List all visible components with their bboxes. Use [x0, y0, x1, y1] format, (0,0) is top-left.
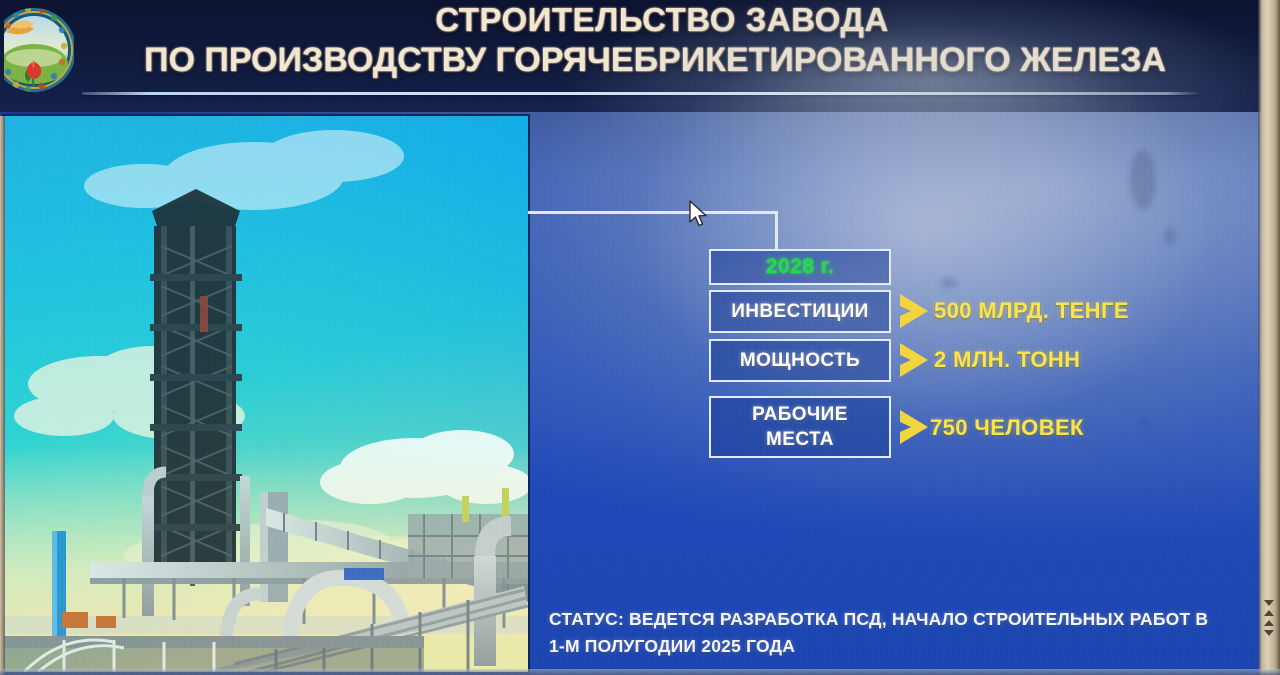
callout-connector-vertical — [775, 211, 778, 251]
display-edge-strip — [1258, 0, 1280, 675]
display-edge-buttons[interactable] — [1262, 600, 1276, 636]
investments-box: ИНВЕСТИЦИИ — [709, 290, 891, 333]
status-line-1: СТАТУС: ВЕДЕТСЯ РАЗРАБОТКА ПСД, НАЧАЛО С… — [549, 606, 1249, 633]
presentation-screen: СТРОИТЕЛЬСТВО ЗАВОДА ПО ПРОИЗВОДСТВУ ГОР… — [0, 0, 1280, 675]
status-block: СТАТУС: ВЕДЕТСЯ РАЗРАБОТКА ПСД, НАЧАЛО С… — [549, 606, 1249, 660]
chevron-right-icon — [898, 292, 932, 330]
edge-button-up-icon[interactable] — [1264, 610, 1274, 616]
jobs-box: РАБОЧИЕ МЕСТА — [709, 396, 891, 458]
plant-photo — [4, 116, 528, 672]
year-label: 2028 г. — [766, 255, 835, 279]
chevron-right-icon — [898, 408, 932, 446]
jobs-value: 750 ЧЕЛОВЕК — [930, 415, 1084, 441]
callout-connector-horizontal — [528, 211, 778, 214]
display-frame-bottom — [0, 669, 1280, 675]
title-line-1: СТРОИТЕЛЬСТВО ЗАВОДА — [40, 0, 1270, 40]
display-frame-left — [0, 116, 5, 675]
edge-button-down-icon[interactable] — [1264, 630, 1274, 636]
title-line-2: ПО ПРОИЗВОДСТВУ ГОРЯЧЕБРИКЕТИРОВАННОГО Ж… — [40, 40, 1270, 80]
investments-label: ИНВЕСТИЦИИ — [731, 299, 868, 324]
jobs-label-line-1: РАБОЧИЕ — [752, 402, 848, 427]
title-divider — [82, 92, 1200, 95]
edge-button-down-icon[interactable] — [1264, 600, 1274, 606]
capacity-box: МОЩНОСТЬ — [709, 339, 891, 382]
chevron-right-icon — [898, 341, 932, 379]
jobs-label-line-2: МЕСТА — [766, 427, 834, 452]
investments-value: 500 МЛРД. ТЕНГЕ — [934, 298, 1129, 324]
status-line-2: 1-М ПОЛУГОДИИ 2025 ГОДА — [549, 633, 1249, 660]
slide-header: СТРОИТЕЛЬСТВО ЗАВОДА ПО ПРОИЗВОДСТВУ ГОР… — [0, 0, 1280, 112]
year-box: 2028 г. — [709, 249, 891, 285]
capacity-label: МОЩНОСТЬ — [740, 348, 860, 373]
edge-button-up-icon[interactable] — [1264, 620, 1274, 626]
capacity-value: 2 МЛН. ТОНН — [934, 347, 1080, 373]
page-title: СТРОИТЕЛЬСТВО ЗАВОДА ПО ПРОИЗВОДСТВУ ГОР… — [40, 0, 1270, 80]
